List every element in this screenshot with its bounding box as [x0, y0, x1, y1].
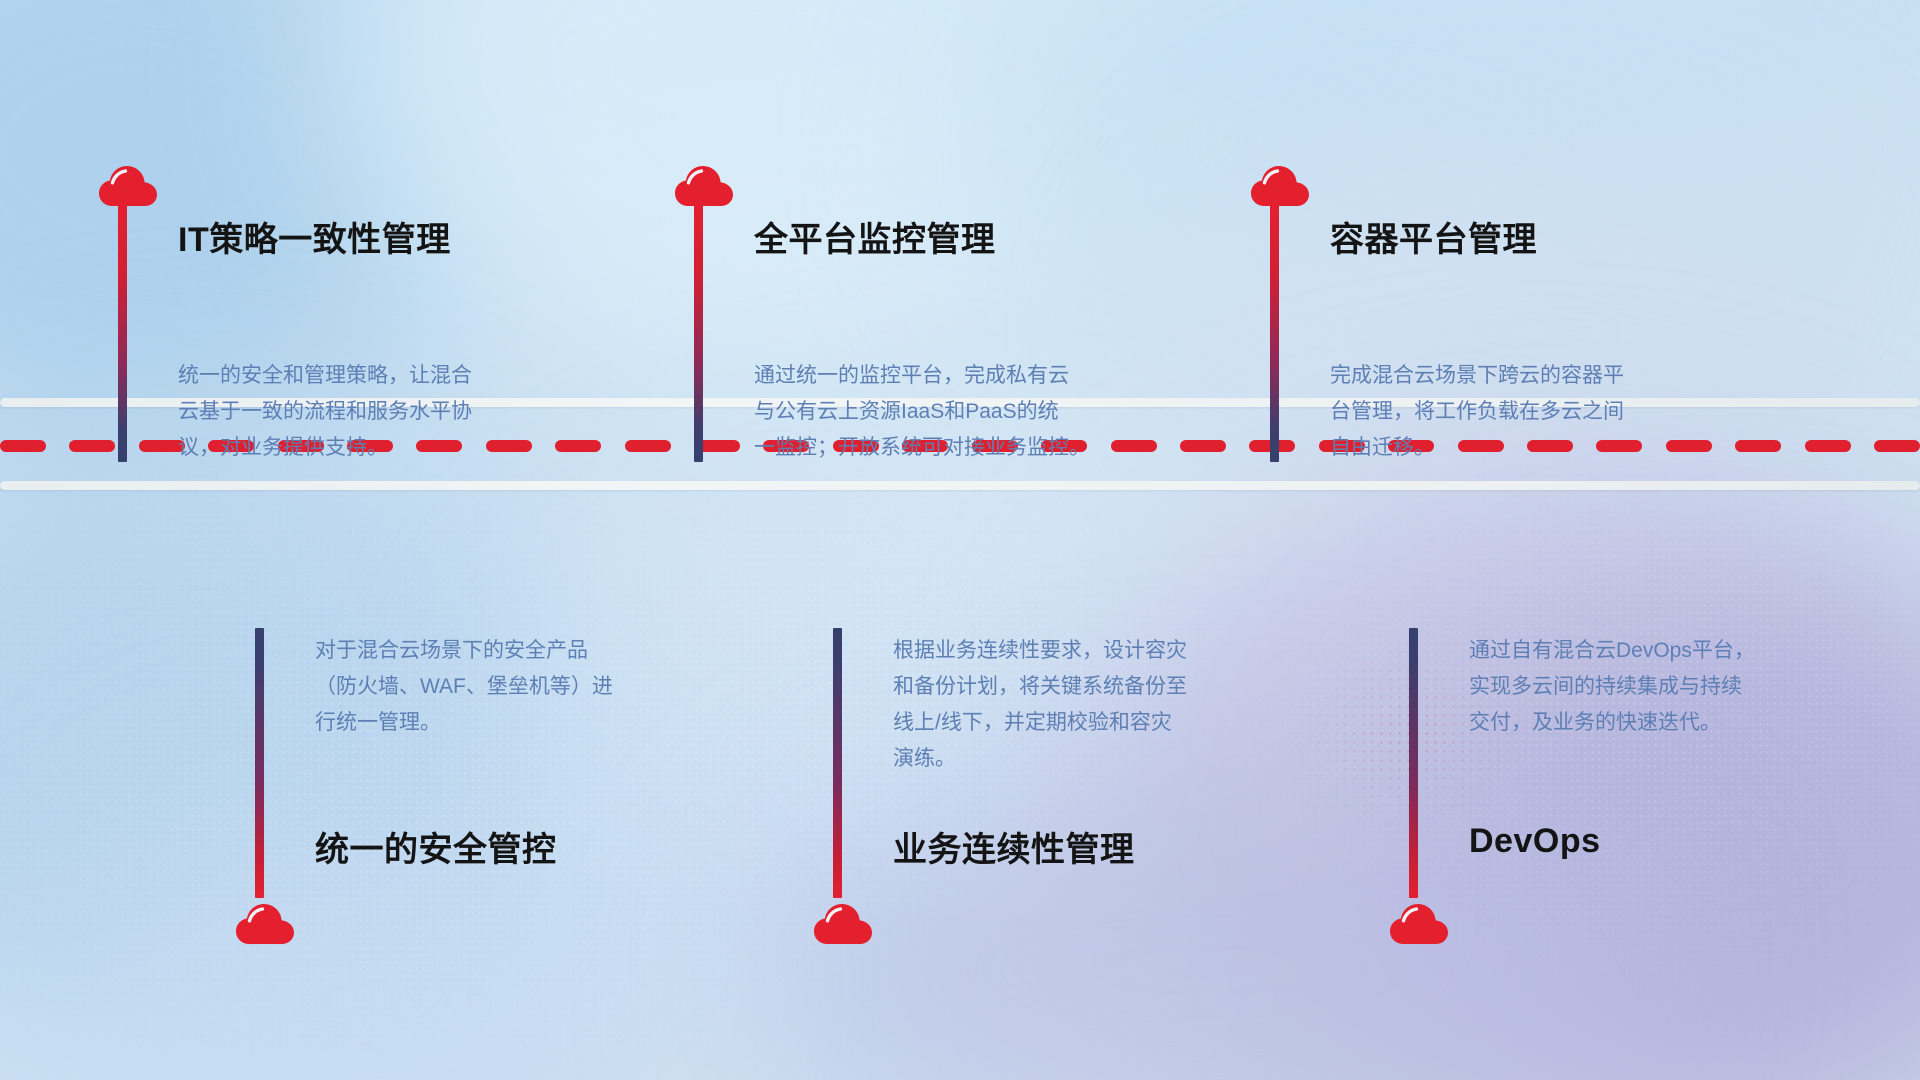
cloud-icon — [1248, 160, 1312, 208]
feature-title: 业务连续性管理 — [893, 822, 1135, 871]
feature-description: 完成混合云场景下跨云的容器平 台管理，将工作负载在多云之间 自由迁移。 — [1330, 358, 1760, 466]
connector-bar — [1409, 628, 1418, 898]
feature-description: 统一的安全和管理策略，让混合 云基于一致的流程和服务水平协 议，对业务提供支持。 — [178, 358, 608, 466]
cloud-icon — [1387, 898, 1451, 946]
feature-description: 通过统一的监控平台，完成私有云 与公有云上资源IaaS和PaaS的统 一监控；开… — [754, 358, 1204, 466]
cloud-icon — [233, 898, 297, 946]
road-dash-segment — [625, 440, 671, 452]
cloud-icon — [96, 160, 160, 208]
connector-bar — [118, 200, 127, 462]
feature-description: 通过自有混合云DevOps平台， 实现多云间的持续集成与持续 交付，及业务的快速… — [1469, 633, 1899, 741]
connector-bar — [255, 628, 264, 898]
feature-title: 全平台监控管理 — [754, 212, 996, 261]
feature-description: 根据业务连续性要求，设计容灾 和备份计划，将关键系统备份至 线上/线下，并定期校… — [893, 633, 1323, 777]
cloud-icon — [811, 898, 875, 946]
road-dash-segment — [1874, 440, 1920, 452]
road-dash-segment — [69, 440, 115, 452]
feature-title: 统一的安全管控 — [315, 822, 557, 871]
feature-title: DevOps — [1469, 822, 1601, 861]
road-dash-segment — [1805, 440, 1851, 452]
connector-bar — [694, 200, 703, 462]
connector-bar — [833, 628, 842, 898]
road-dash-segment — [0, 440, 46, 452]
connector-bar — [1270, 200, 1279, 462]
road-edge-line-bottom — [0, 481, 1920, 490]
feature-description: 对于混合云场景下的安全产品 （防火墙、WAF、堡垒机等）进 行统一管理。 — [315, 633, 745, 741]
cloud-icon — [672, 160, 736, 208]
feature-title: 容器平台管理 — [1330, 212, 1537, 261]
feature-title: IT策略一致性管理 — [178, 212, 451, 261]
